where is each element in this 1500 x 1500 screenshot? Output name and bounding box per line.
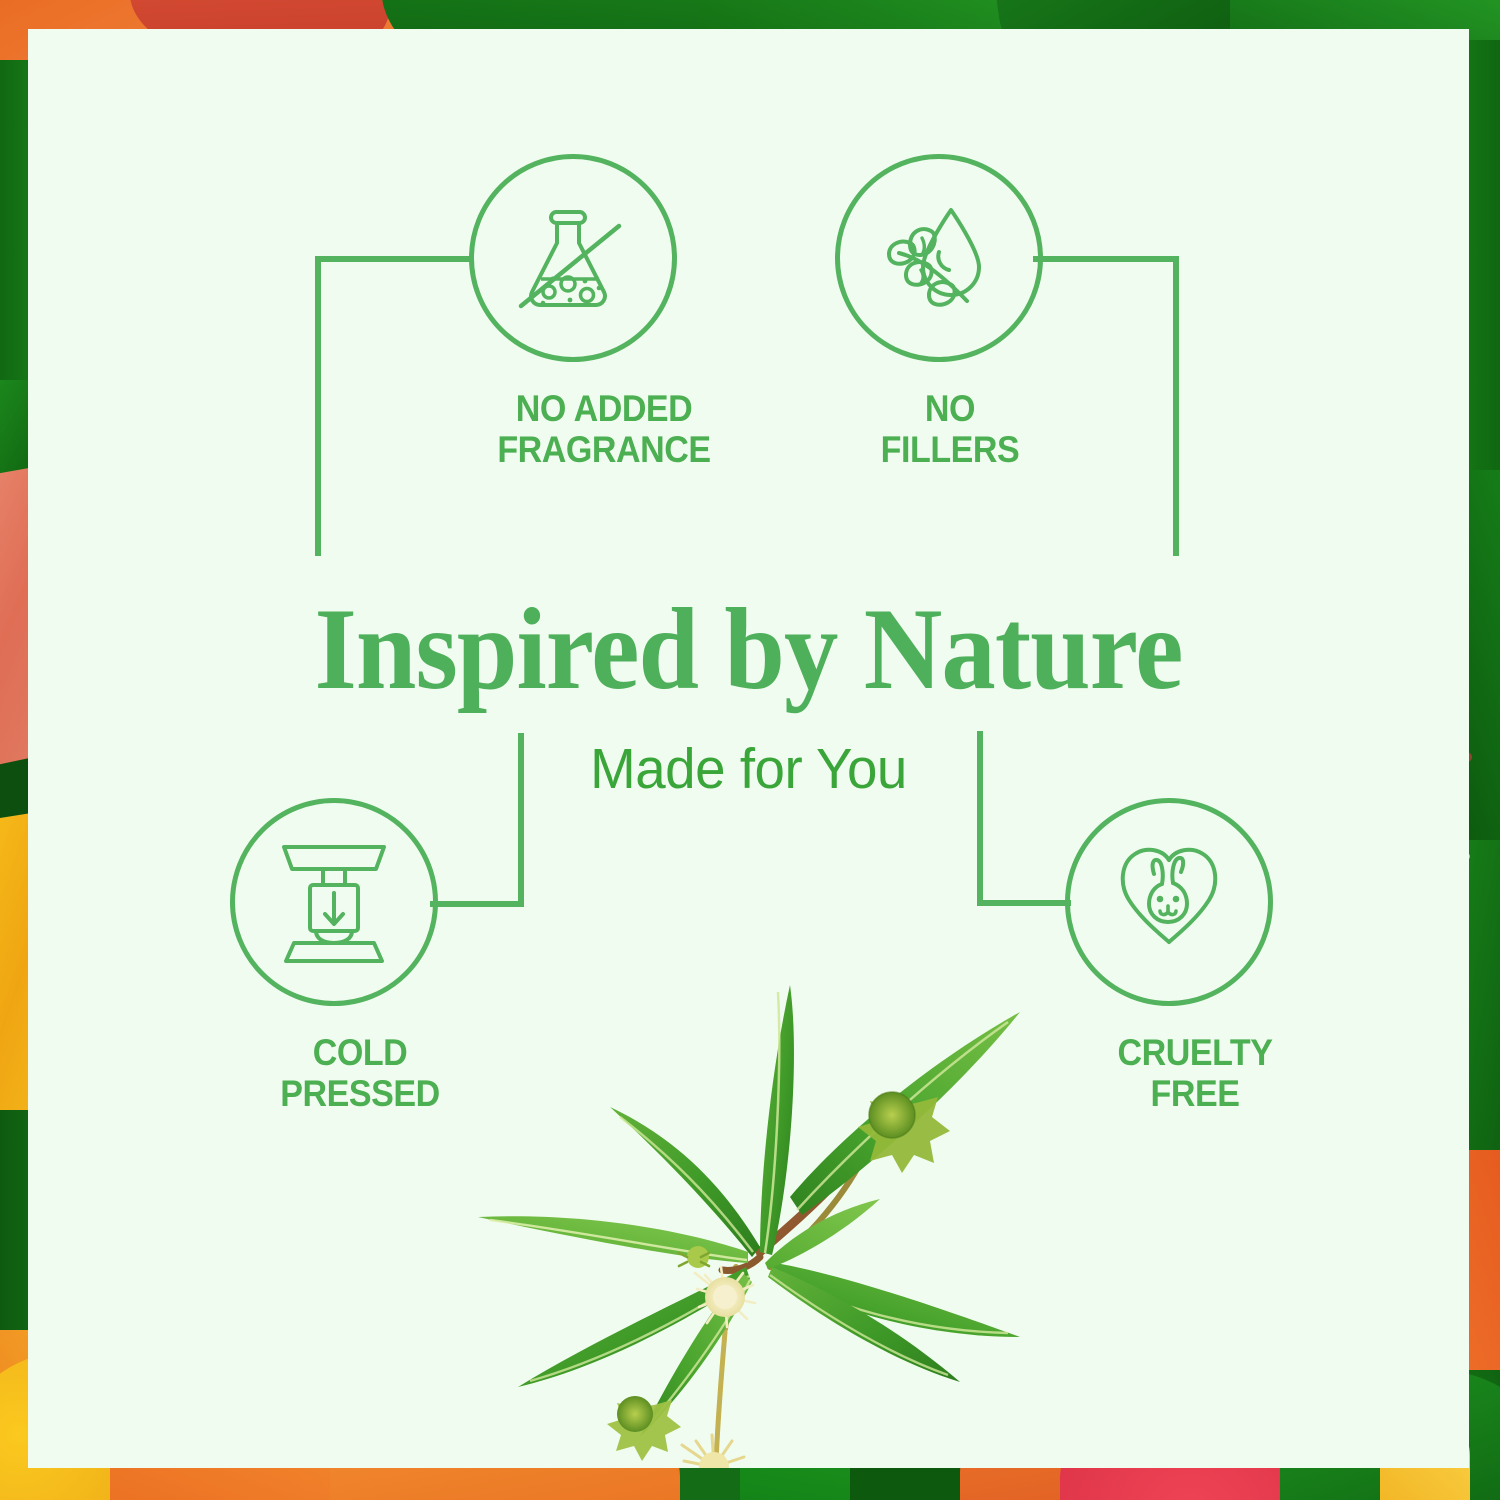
poster-stage: NO ADDED FRAGRANCE NO FILLERS [0,0,1500,1500]
badge-label: NO FILLERS [844,388,1056,471]
badge-no-added-fragrance[interactable]: NO ADDED FRAGRANCE [469,154,739,471]
droplet-leaf-icon [877,196,1001,320]
badge-cruelty-free[interactable]: CRUELTY FREE [1065,798,1325,1115]
heart-bunny-icon [1107,842,1231,962]
page-subtitle: Made for You [57,736,1440,802]
badge-circle [835,154,1043,362]
badge-label: CRUELTY FREE [1075,1032,1314,1115]
page-title: Inspired by Nature [78,591,1418,708]
badge-circle [230,798,438,1006]
eclipta-plant-photo [460,967,1050,1468]
badge-circle [469,154,677,362]
flask-no-fragrance-icon [511,196,635,320]
badge-label: NO ADDED FRAGRANCE [480,388,728,471]
headline-block: Inspired by Nature [28,591,1469,708]
press-machine-icon [274,839,394,965]
badge-cold-pressed[interactable]: COLD PRESSED [230,798,490,1115]
badge-no-fillers[interactable]: NO FILLERS [835,154,1065,471]
content-panel: NO ADDED FRAGRANCE NO FILLERS [28,29,1469,1468]
badge-label: COLD PRESSED [240,1032,479,1115]
badge-circle [1065,798,1273,1006]
